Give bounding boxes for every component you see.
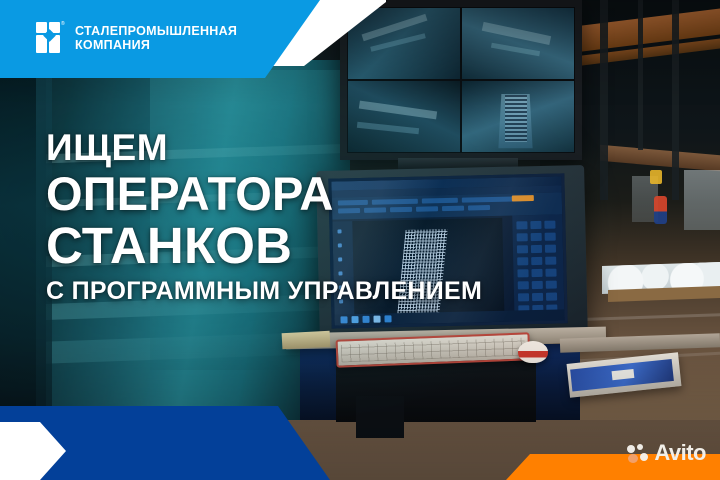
brand-name: СТАЛЕПРОМЫШЛЕННАЯ КОМПАНИЯ [75,24,237,52]
ad-banner: ® СТАЛЕПРОМЫШЛЕННАЯ КОМПАНИЯ ИЩЕМ ОПЕРАТ… [0,0,720,480]
desk-leg [356,396,404,438]
headline: ИЩЕМ ОПЕРАТОРА СТАНКОВ С ПРОГРАММНЫМ УПР… [46,128,482,305]
brand-name-line2: КОМПАНИЯ [75,38,237,52]
mouse-icon [518,341,548,363]
avito-watermark: Avito [627,440,706,466]
registered-mark: ® [61,21,65,27]
headline-line-3: СТАНКОВ [46,219,482,272]
spk-block-logo-icon: ® [36,22,66,53]
cnc-keypad [512,214,564,323]
avito-label: Avito [654,440,706,466]
paper-stack [282,331,331,349]
cctv-cell [461,7,575,80]
worker-icon [654,196,667,224]
hall-window [684,170,720,230]
avito-dots-icon [627,444,649,462]
hall-column [600,0,608,200]
headline-line-2: ОПЕРАТОРА [46,169,482,218]
crane-hook-icon [650,170,662,184]
headline-line-1: ИЩЕМ [46,128,482,167]
brand-name-line1: СТАЛЕПРОМЫШЛЕННАЯ [75,24,237,38]
hall-column [638,0,643,150]
brand-logo: ® СТАЛЕПРОМЫШЛЕННАЯ КОМПАНИЯ [36,22,237,53]
hall-column [672,0,679,200]
headline-line-4: С ПРОГРАММНЫМ УПРАВЛЕНИЕМ [46,278,482,305]
